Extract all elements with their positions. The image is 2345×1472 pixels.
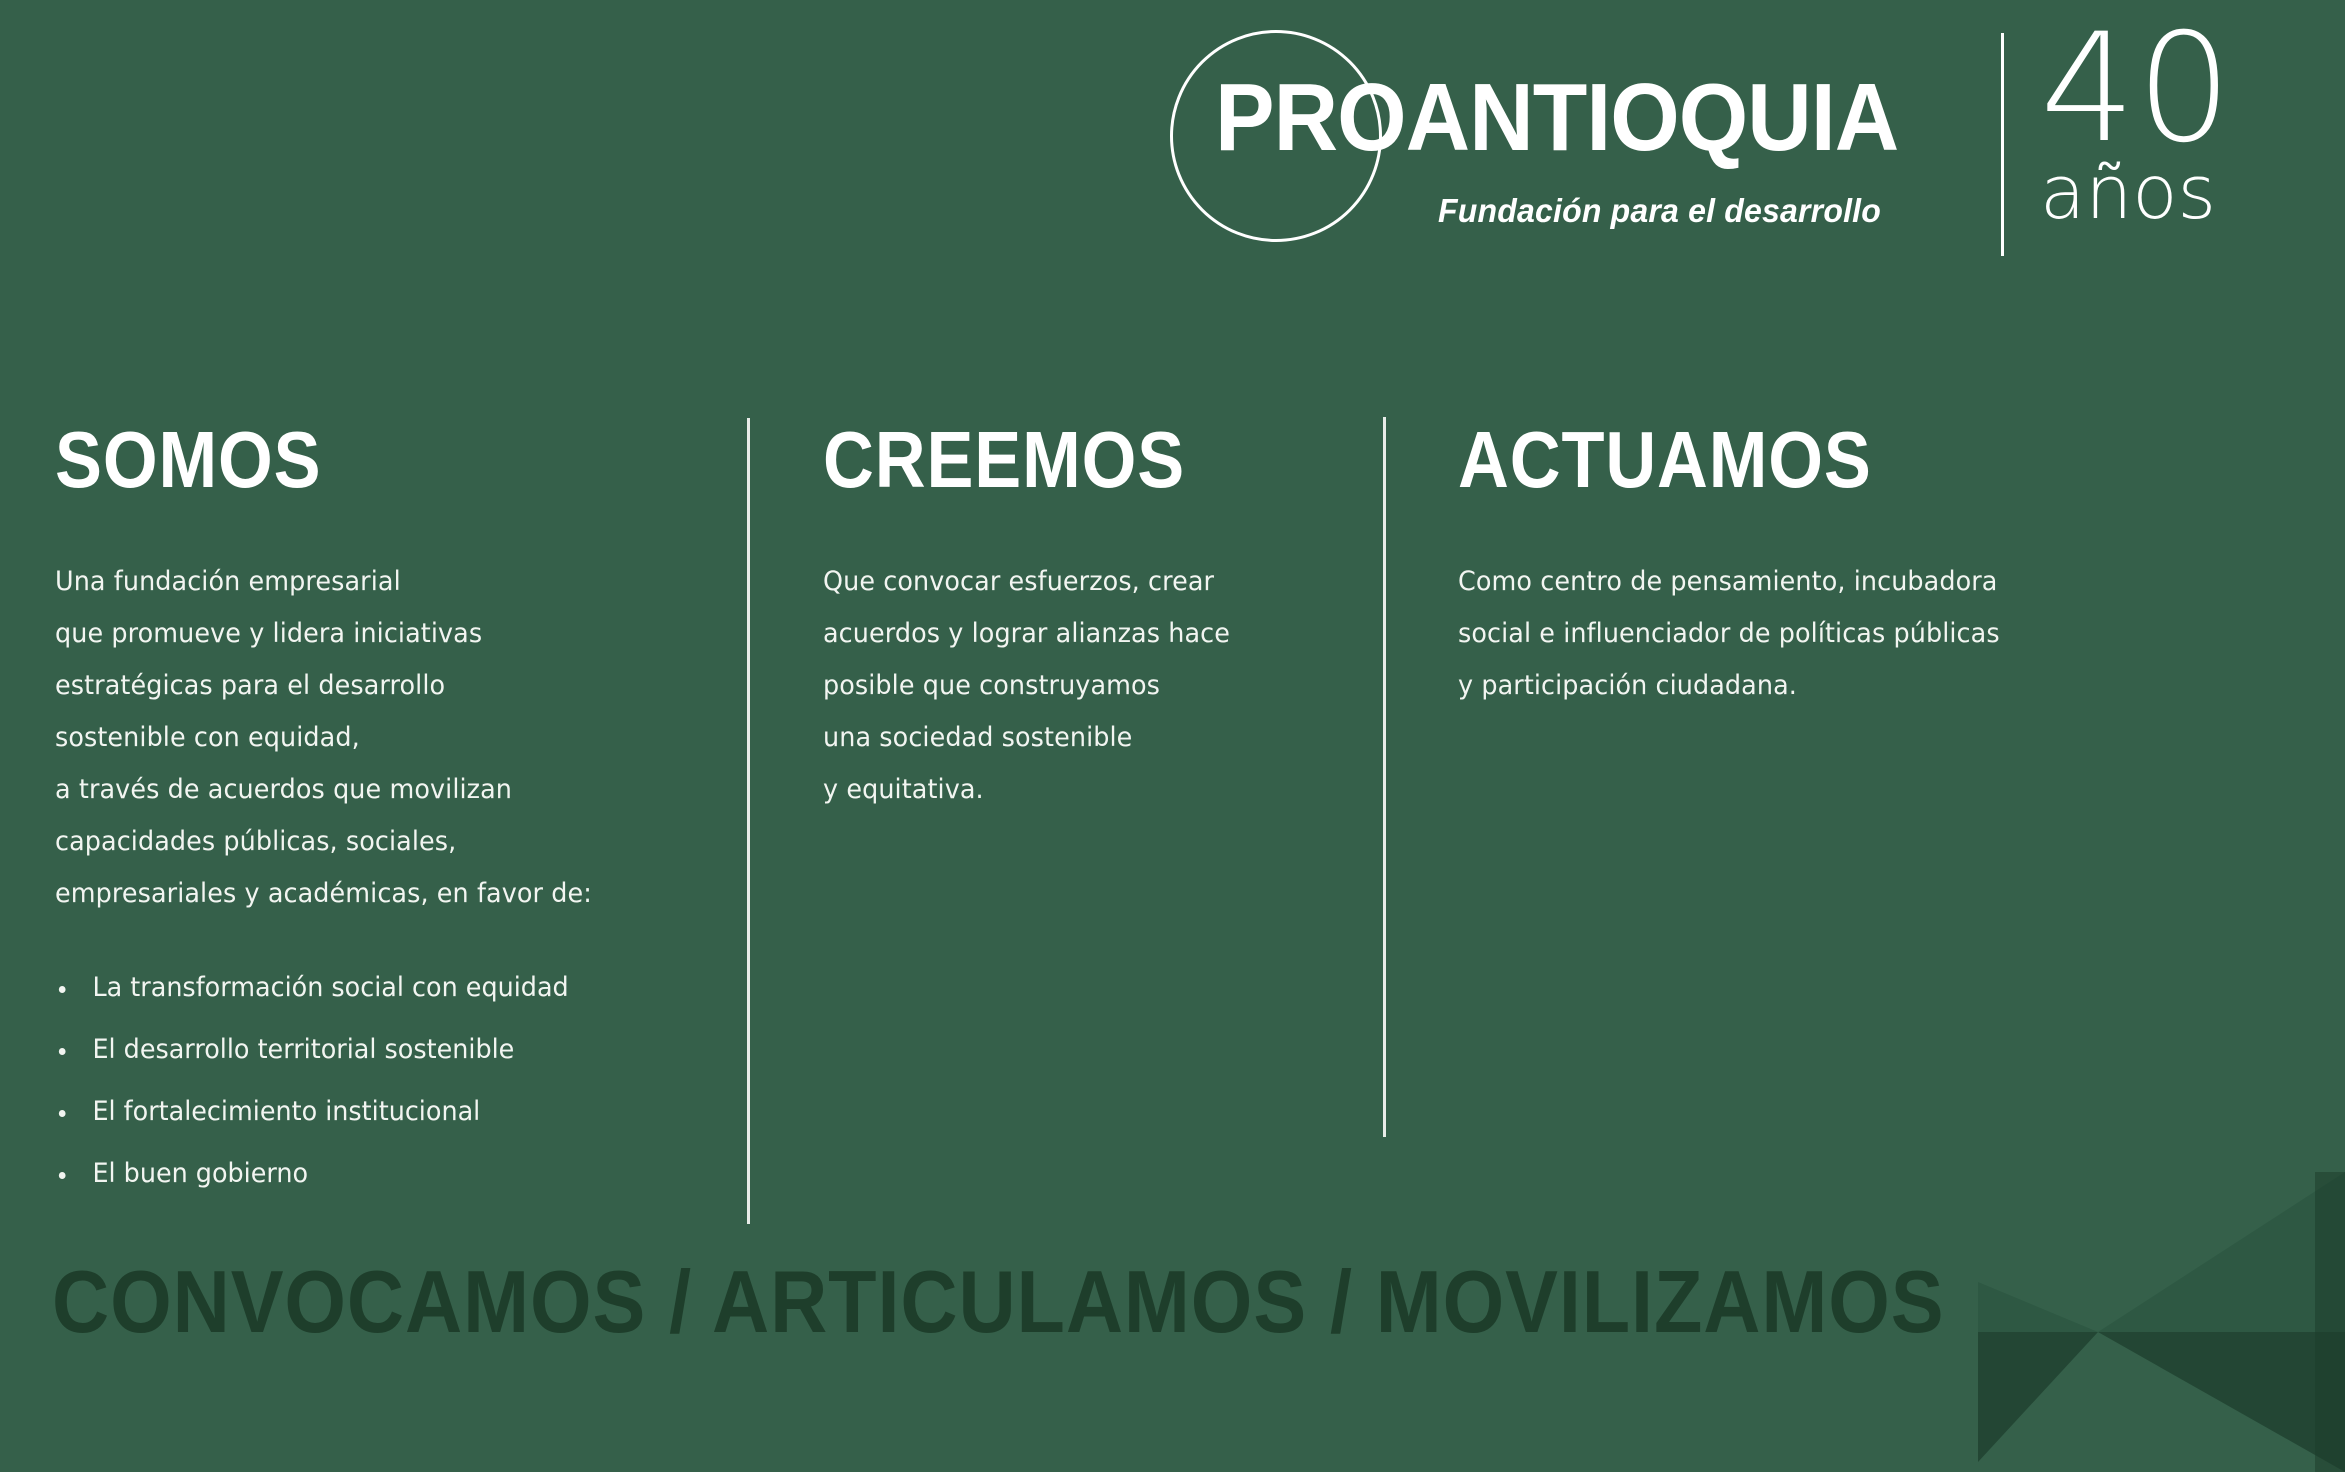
anniversary-word: años bbox=[2040, 160, 2270, 227]
logo-wordmark: PROANTIOQUIA bbox=[1215, 70, 1898, 166]
column-creemos-paragraph: Que convocar esfuerzos, crear acuerdos y… bbox=[823, 556, 1341, 816]
deco-edge-column bbox=[2315, 1172, 2345, 1472]
slide-canvas: PROANTIOQUIA Fundación para el desarroll… bbox=[0, 0, 2345, 1472]
deco-triangle-lower-left bbox=[1978, 1332, 2098, 1462]
footer-tagline: CONVOCAMOS / ARTICULAMOS / MOVILIZAMOS bbox=[52, 1258, 1944, 1346]
column-actuamos-paragraph: Como centro de pensamiento, incubadora s… bbox=[1458, 556, 2111, 712]
list-item: La transformación social con equidad bbox=[55, 962, 689, 1014]
column-somos-bullet-list: La transformación social con equidad El … bbox=[55, 962, 715, 1200]
column-somos-heading: SOMOS bbox=[55, 420, 636, 500]
column-creemos: CREEMOS Que convocar esfuerzos, crear ac… bbox=[823, 420, 1363, 816]
column-actuamos-heading: ACTUAMOS bbox=[1458, 420, 2056, 500]
deco-triangle-upper-right bbox=[2098, 1172, 2345, 1332]
logo-divider bbox=[2001, 33, 2004, 256]
column-divider-2 bbox=[1383, 417, 1386, 1137]
list-item: El fortalecimiento institucional bbox=[55, 1086, 689, 1138]
list-item: El desarrollo territorial sostenible bbox=[55, 1024, 689, 1076]
column-creemos-heading: CREEMOS bbox=[823, 420, 1298, 500]
column-somos: SOMOS Una fundación empresarial que prom… bbox=[55, 420, 715, 1210]
anniversary-number: 40 bbox=[2040, 20, 2270, 158]
column-divider-1 bbox=[747, 418, 750, 1224]
decorative-bowtie-graphic bbox=[1885, 1172, 2345, 1472]
column-somos-paragraph: Una fundación empresarial que promueve y… bbox=[55, 556, 689, 920]
deco-triangle-lower-right bbox=[2098, 1332, 2345, 1472]
deco-triangle-upper-left bbox=[1978, 1282, 2098, 1332]
brand-logo: PROANTIOQUIA Fundación para el desarroll… bbox=[1160, 14, 2290, 264]
list-item: El buen gobierno bbox=[55, 1148, 689, 1200]
logo-tagline: Fundación para el desarrollo bbox=[1438, 192, 1881, 230]
column-actuamos: ACTUAMOS Como centro de pensamiento, inc… bbox=[1458, 420, 2138, 712]
anniversary-badge: 40 años bbox=[2040, 20, 2270, 227]
